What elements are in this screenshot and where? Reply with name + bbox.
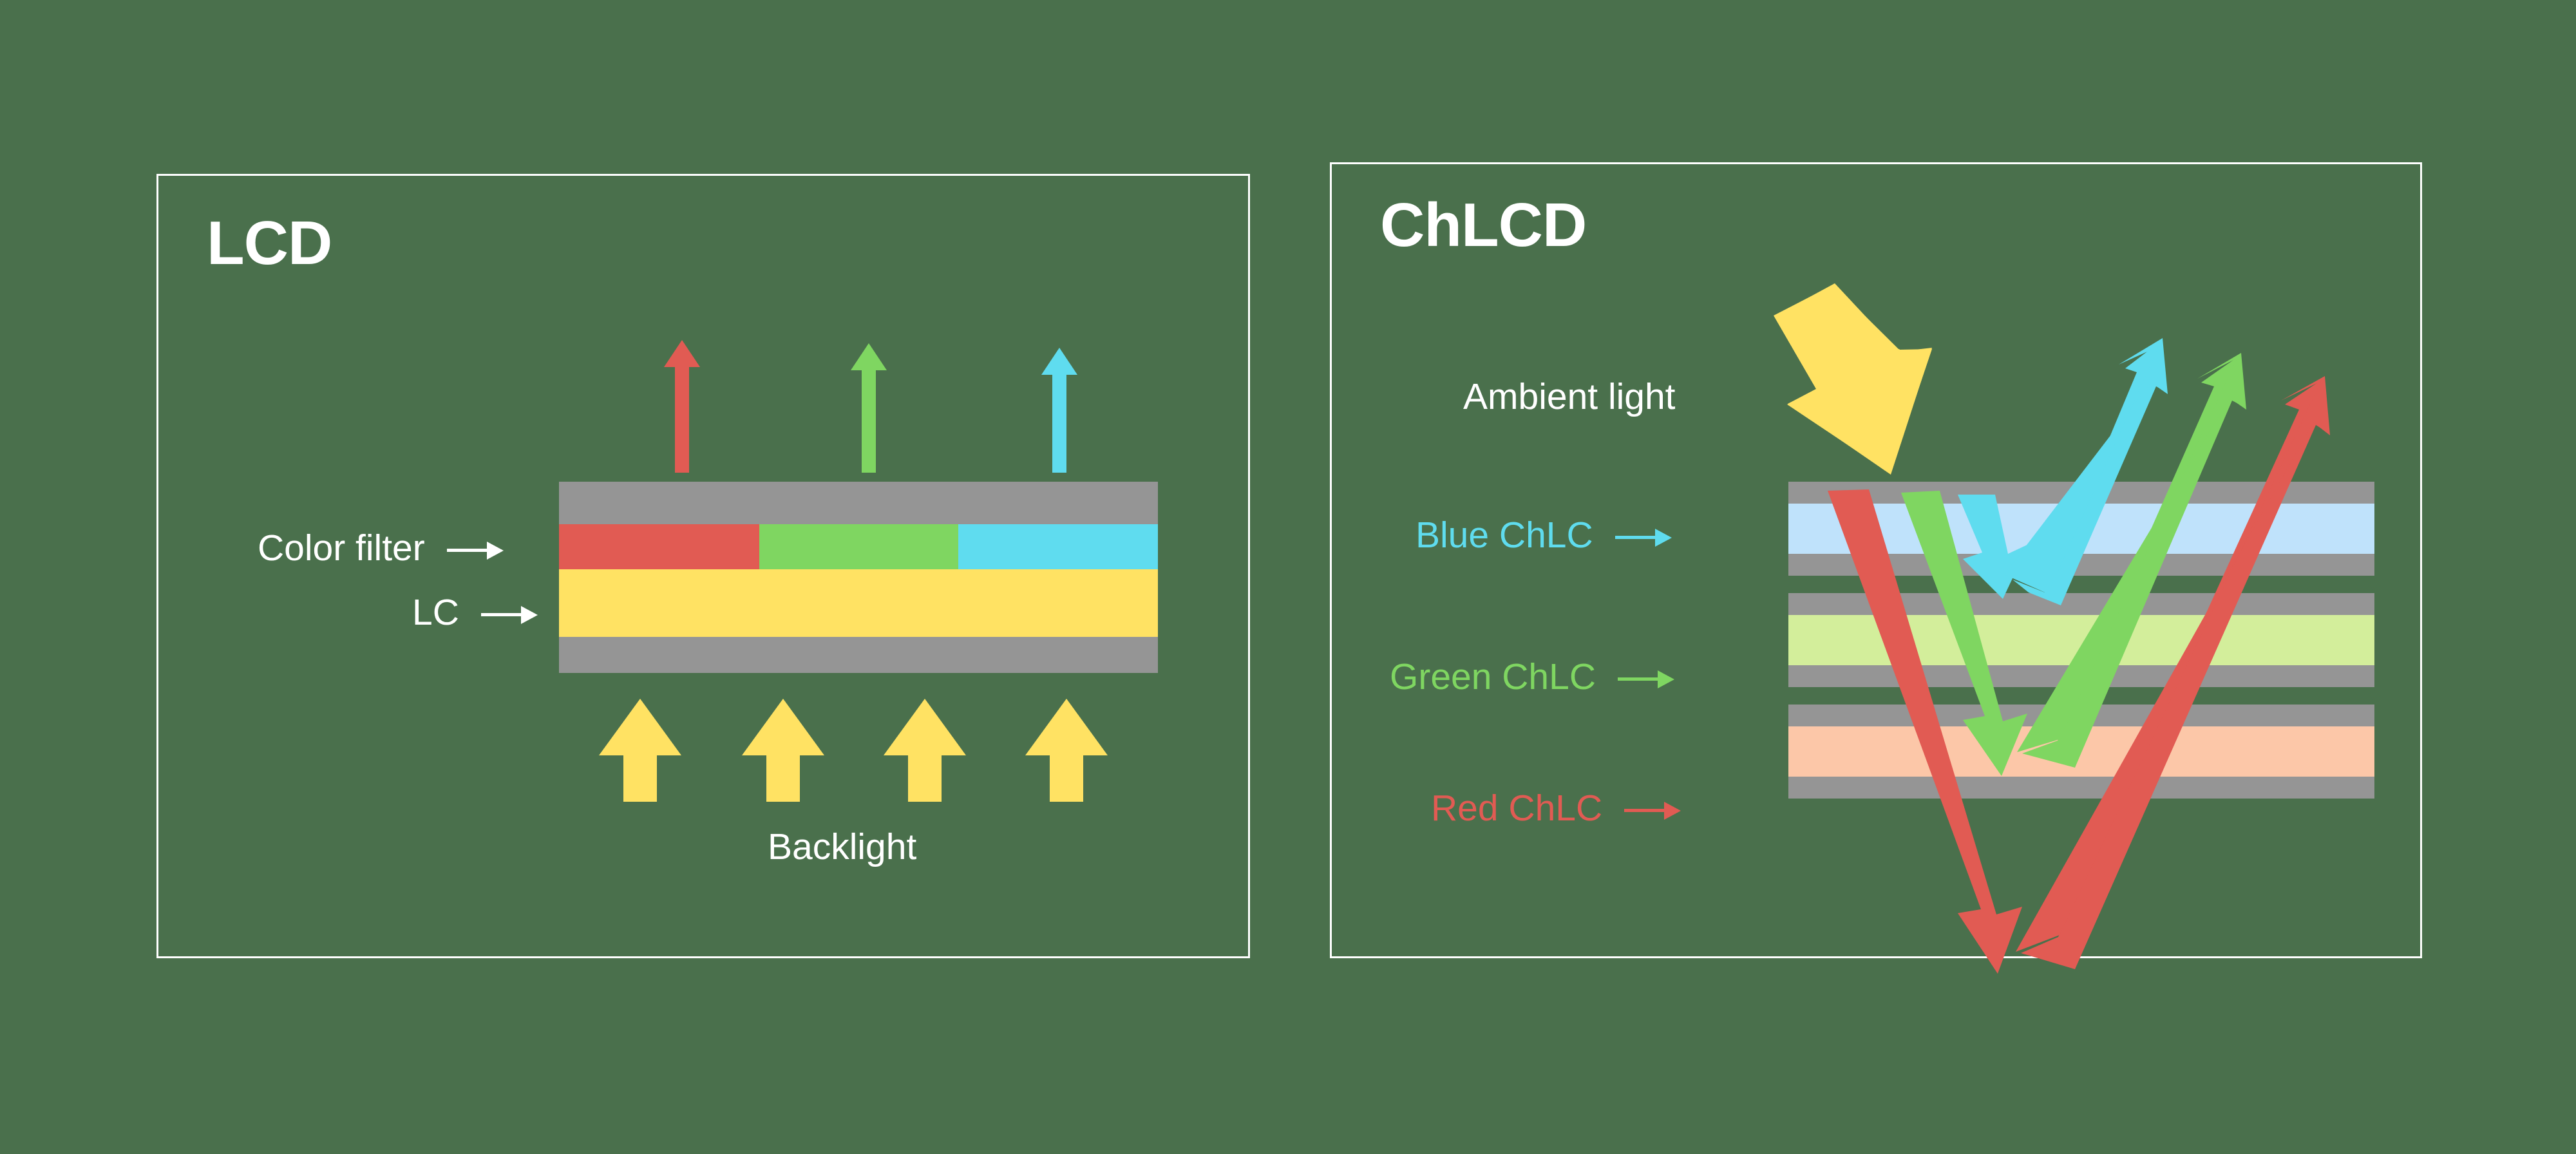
arrow-shaft: [1618, 677, 1658, 681]
right-arrow-icon: [1624, 802, 1681, 820]
label-green-chlc: Green ChLC: [1390, 656, 1674, 698]
label-backlight: Backlight: [768, 826, 916, 868]
green-chlc-cell: [1788, 593, 2374, 687]
lcd-layer-stack: [559, 482, 1158, 673]
label-red-chlc-text: Red ChLC: [1431, 788, 1602, 829]
red-chlc-layer: [1788, 726, 2374, 777]
label-lc-text: LC: [412, 592, 459, 633]
cell-top-substrate: [1788, 705, 2374, 726]
arrow-shaft: [1615, 536, 1655, 539]
lcd-liquid-crystal-layer: [559, 569, 1158, 637]
arrow-stem: [908, 750, 942, 802]
arrow-head: [487, 542, 504, 560]
arrow-stem: [675, 363, 689, 473]
cell-bottom-substrate: [1788, 554, 2374, 576]
arrow-head: [521, 606, 538, 624]
label-lc: LC: [412, 591, 538, 634]
lcd-green-filter-segment: [759, 524, 959, 569]
arrow-head: [1658, 670, 1674, 688]
backlight-arrow-2: [742, 699, 824, 802]
arrow-shaft: [481, 613, 521, 616]
label-red-chlc: Red ChLC: [1431, 787, 1681, 829]
arrow-head: [1025, 699, 1108, 755]
blue-chlc-layer: [1788, 504, 2374, 554]
red-output-arrow: [664, 340, 700, 473]
arrow-stem: [1052, 371, 1066, 473]
arrow-stem: [1050, 750, 1083, 802]
arrow-head: [884, 699, 966, 755]
right-arrow-icon: [447, 542, 504, 560]
right-arrow-icon: [1618, 670, 1674, 688]
label-color-filter: Color filter: [258, 527, 504, 569]
arrow-head: [1655, 529, 1672, 547]
blue-output-arrow: [1041, 348, 1077, 473]
red-chlc-cell: [1788, 705, 2374, 799]
backlight-arrow-4: [1025, 699, 1108, 802]
label-green-chlc-text: Green ChLC: [1390, 656, 1596, 697]
page-title-lcd: LCD: [207, 208, 332, 279]
label-color-filter-text: Color filter: [258, 527, 425, 569]
right-arrow-icon: [481, 606, 538, 624]
lcd-color-filter-strip: [559, 524, 1158, 569]
cell-bottom-substrate: [1788, 777, 2374, 799]
arrow-shaft: [447, 549, 487, 552]
page-title-chlcd: ChLCD: [1380, 190, 1586, 261]
lcd-blue-filter-segment: [958, 524, 1158, 569]
blue-chlc-cell: [1788, 482, 2374, 576]
arrow-head: [599, 699, 681, 755]
arrow-head: [742, 699, 824, 755]
arrow-shaft: [1624, 809, 1664, 812]
label-blue-chlc: Blue ChLC: [1416, 514, 1672, 556]
lcd-bottom-substrate: [559, 637, 1158, 673]
label-ambient-light: Ambient light: [1463, 375, 1676, 418]
arrow-stem: [862, 366, 876, 473]
arrow-stem: [623, 750, 657, 802]
label-blue-chlc-text: Blue ChLC: [1416, 515, 1593, 556]
label-ambient-light-text: Ambient light: [1463, 376, 1676, 417]
backlight-arrow-3: [884, 699, 966, 802]
lcd-top-substrate: [559, 482, 1158, 524]
green-output-arrow: [851, 343, 887, 473]
right-arrow-icon: [1615, 529, 1672, 547]
cell-bottom-substrate: [1788, 665, 2374, 687]
lcd-red-filter-segment: [559, 524, 759, 569]
green-chlc-layer: [1788, 615, 2374, 665]
chlcd-layer-stack: [1788, 482, 2374, 816]
arrow-head: [1664, 802, 1681, 820]
cell-top-substrate: [1788, 482, 2374, 504]
backlight-arrow-1: [599, 699, 681, 802]
arrow-stem: [766, 750, 800, 802]
cell-top-substrate: [1788, 593, 2374, 615]
